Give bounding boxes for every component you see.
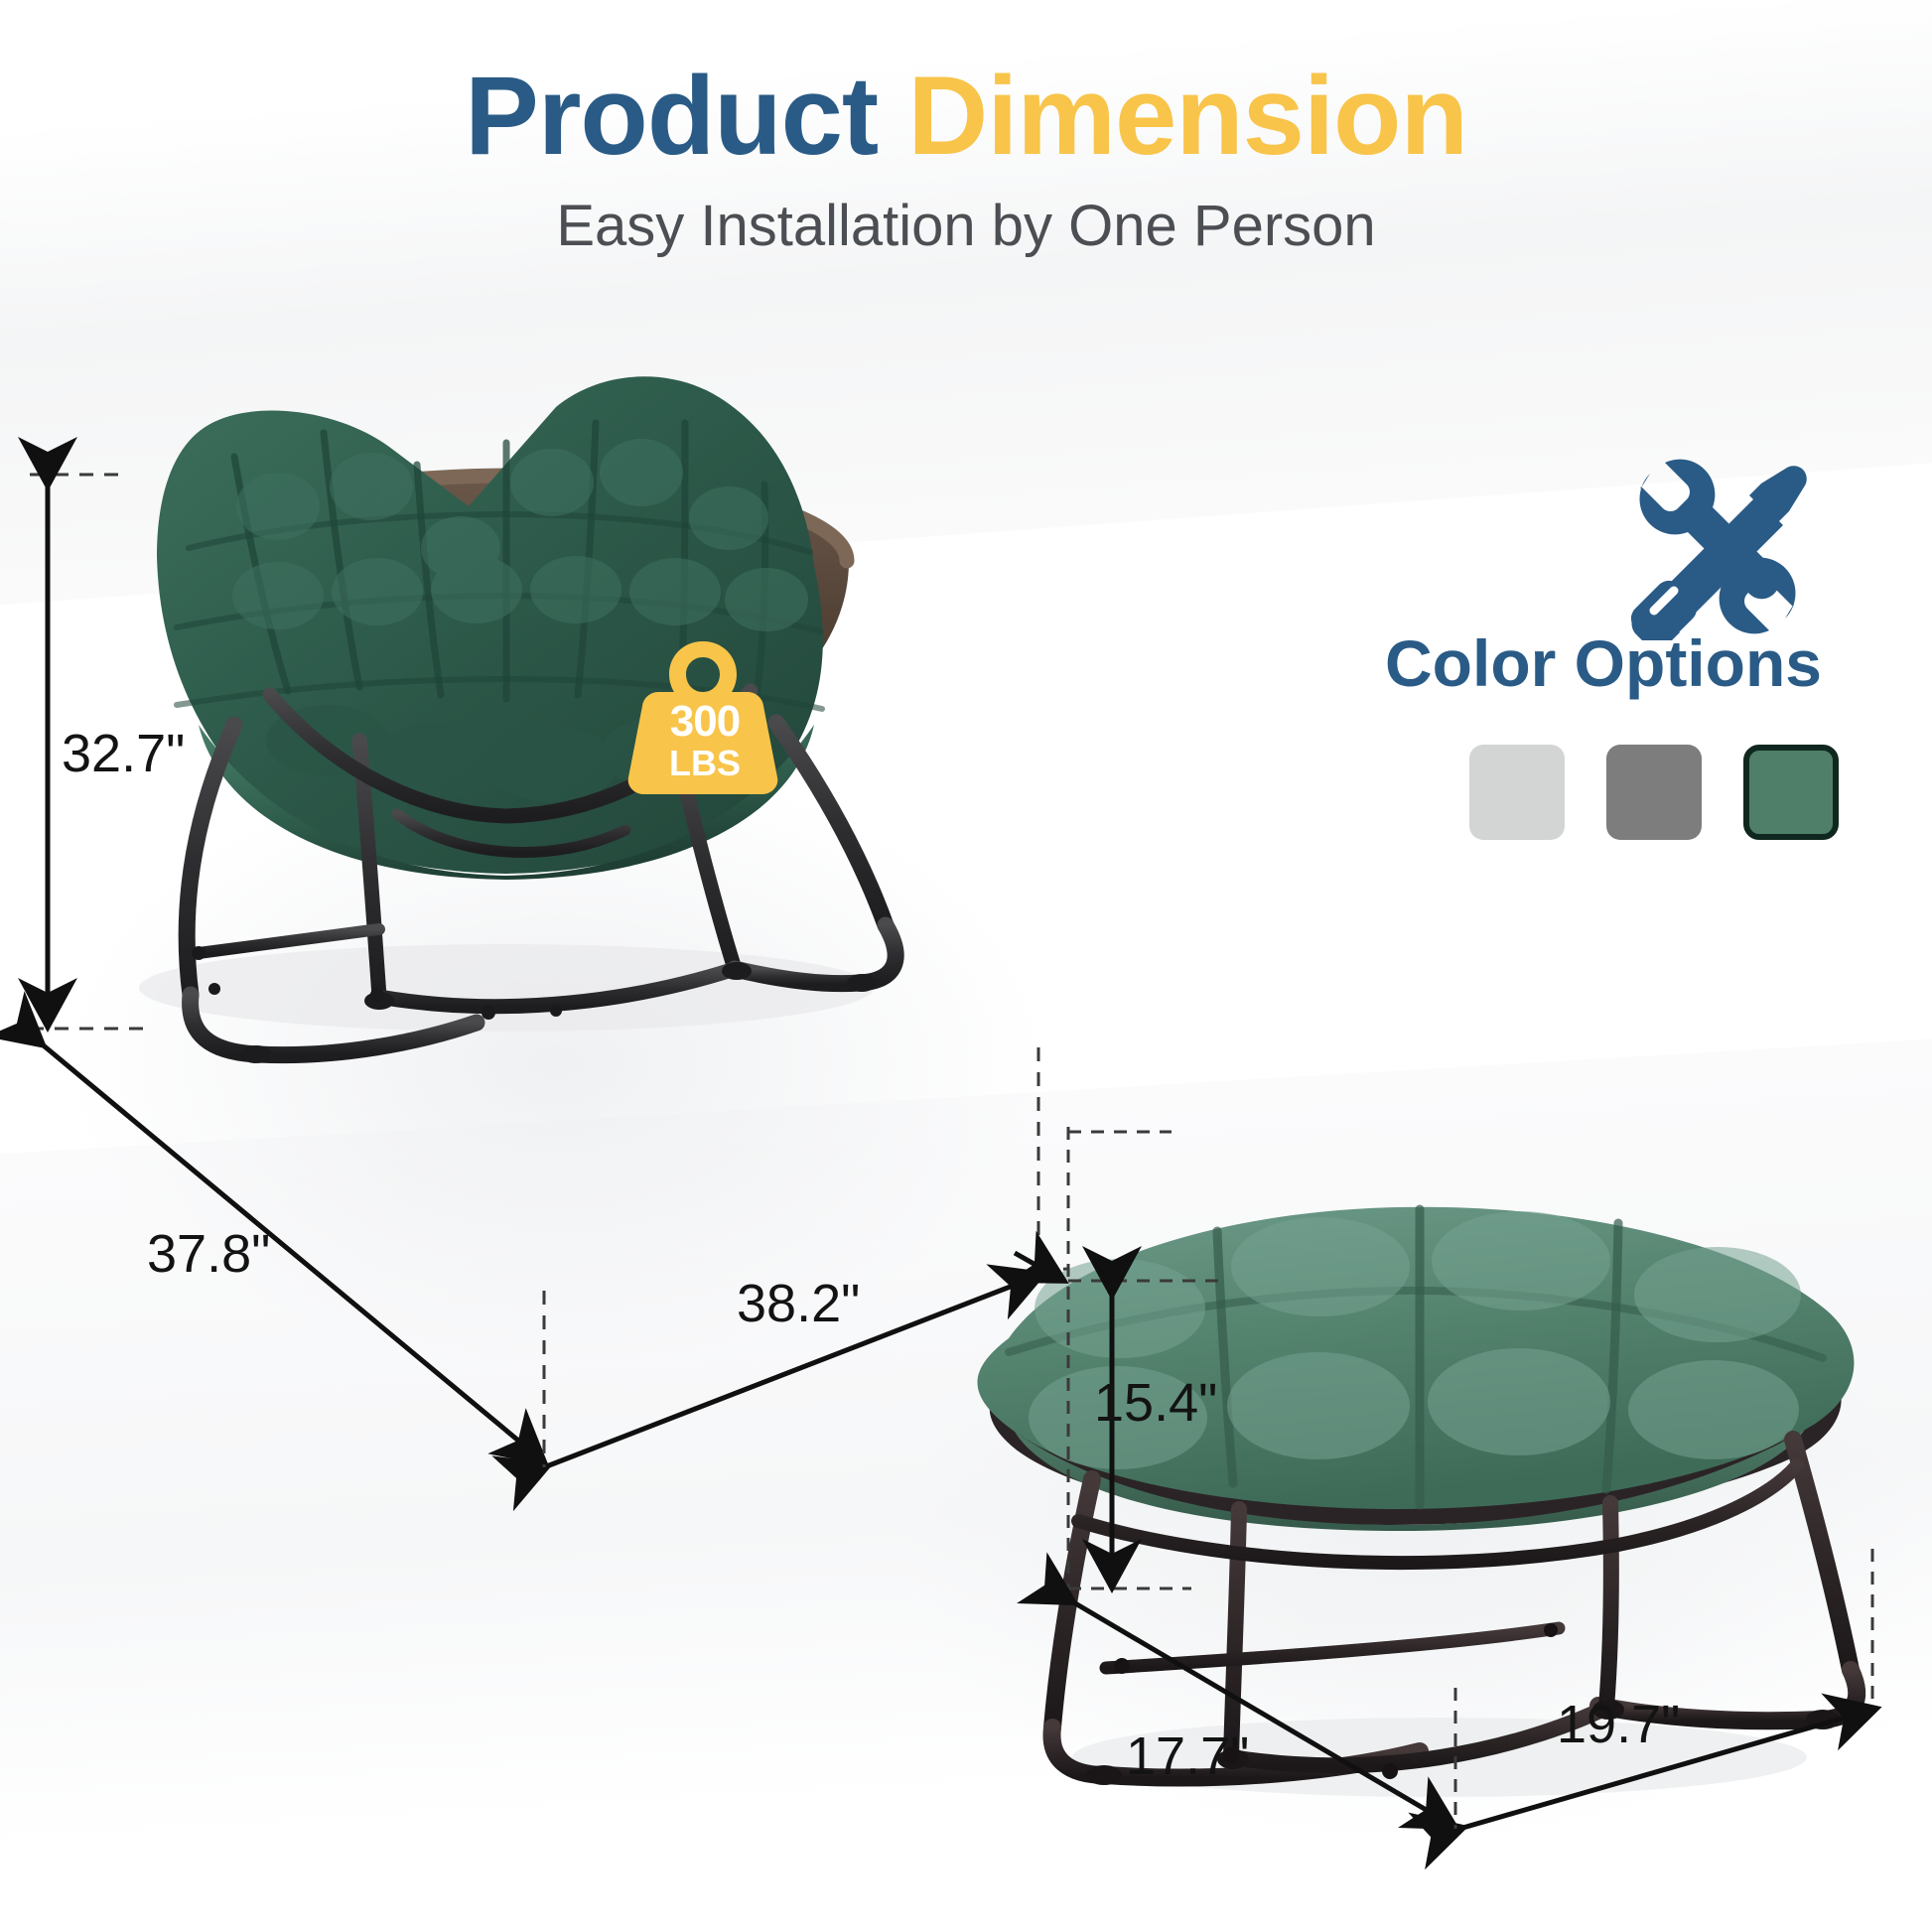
ottoman-image: [923, 1072, 1926, 1827]
weight-icon: 300 LBS: [625, 635, 784, 794]
page-title: Product Dimension: [0, 58, 1932, 175]
chair-height-label: 32.7": [62, 723, 185, 784]
title-word-dimension: Dimension: [907, 54, 1467, 178]
color-swatch-green[interactable]: [1743, 745, 1839, 840]
page-subtitle: Easy Installation by One Person: [0, 193, 1932, 259]
color-swatch-light-gray[interactable]: [1469, 745, 1565, 840]
chair-depth-label: 37.8": [147, 1223, 270, 1285]
rocking-chair-image: [40, 258, 973, 1092]
color-swatch-row: [1469, 745, 1839, 840]
weight-value: 300: [625, 697, 784, 747]
ottoman-depth-label: 17.7": [1126, 1725, 1249, 1787]
weight-unit: LBS: [625, 743, 784, 784]
title-word-product: Product: [465, 54, 878, 178]
ottoman-height-label: 15.4": [1094, 1372, 1217, 1434]
infographic-canvas: Product Dimension Easy Installation by O…: [0, 0, 1932, 1932]
ottoman-width-label: 19.7": [1557, 1694, 1680, 1755]
color-swatch-gray[interactable]: [1606, 745, 1702, 840]
wrench-screwdriver-icon: [1618, 452, 1817, 640]
chair-width-label: 38.2": [737, 1273, 860, 1334]
header: Product Dimension Easy Installation by O…: [0, 58, 1932, 259]
color-options-heading: Color Options: [1286, 625, 1921, 701]
